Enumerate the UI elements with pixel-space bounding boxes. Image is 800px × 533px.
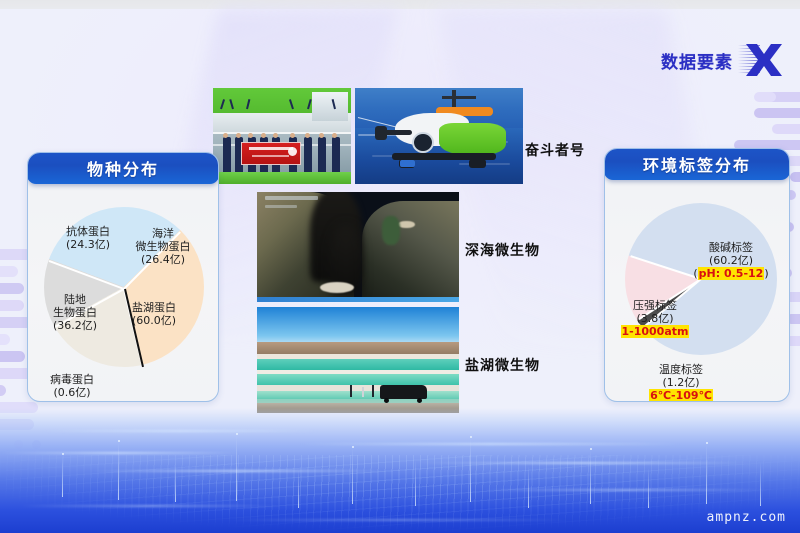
- environment-card-body: 酸碱标签 (60.2亿) (pH: 0.5-12) 压强标签 (3.8亿) 1-…: [605, 181, 789, 401]
- slice-label-ocean: 海洋 微生物蛋白 (26.4亿): [124, 227, 202, 266]
- slice-label-pressure: 压强标签 (3.8亿) 1-1000atm: [607, 299, 703, 338]
- x-mark-icon: [740, 41, 784, 79]
- slice-label-ph: 酸碱标签 (60.2亿) (pH: 0.5-12): [681, 241, 781, 280]
- slice-label-antibody: 抗体蛋白 (24.3亿): [48, 225, 128, 251]
- ph-range-badge-wrap: (pH: 0.5-12): [693, 267, 768, 280]
- photo-caption-saltlake: 盐湖微生物: [465, 355, 540, 375]
- slice-label-virus: 病毒蛋白 (0.6亿): [32, 373, 112, 399]
- research-crew-photo: [213, 88, 351, 184]
- species-card-title: 物种分布: [87, 156, 159, 180]
- photo-caption-submersible: 奋斗者号: [525, 140, 585, 160]
- species-card-header: 物种分布: [27, 152, 219, 184]
- slice-label-temperature: 温度标签 (1.2亿) 6℃-109℃: [633, 363, 729, 402]
- data-mesh-pattern: [0, 455, 800, 533]
- photo-caption-deepsea: 深海微生物: [465, 240, 540, 260]
- brand-logo: 数据要素: [661, 42, 784, 78]
- pressure-range-badge: 1-1000atm: [621, 325, 690, 338]
- watermark: ampnz.com: [707, 510, 786, 525]
- deep-sea-vent-photo: [257, 192, 459, 302]
- logo-text: 数据要素: [661, 48, 733, 73]
- slide-canvas: 数据要素: [0, 0, 800, 533]
- salt-lake-photo: [257, 307, 459, 413]
- slice-label-saltlake: 盐湖蛋白 (60.0亿): [114, 301, 194, 327]
- environment-distribution-card: 环境标签分布 酸碱标签 (60.2亿) (pH: 0.5-12) 压强标签 (3…: [604, 148, 790, 402]
- ph-range-badge: pH: 0.5-12: [698, 267, 765, 280]
- environment-card-header: 环境标签分布: [604, 148, 790, 180]
- slice-label-terrestrial: 陆地 生物蛋白 (36.2亿): [40, 293, 110, 332]
- species-card-body: 海洋 微生物蛋白 (26.4亿) 盐湖蛋白 (60.0亿) 病毒蛋白 (0.6亿…: [28, 185, 218, 401]
- top-strip: [0, 0, 800, 9]
- species-distribution-card: 物种分布 海洋 微生物蛋白 (26.4亿) 盐湖蛋白 (60.0亿) 病毒蛋白: [27, 152, 219, 402]
- temperature-range-badge: 6℃-109℃: [649, 389, 713, 402]
- environment-card-title: 环境标签分布: [643, 152, 751, 176]
- submersible-photo: [355, 88, 523, 184]
